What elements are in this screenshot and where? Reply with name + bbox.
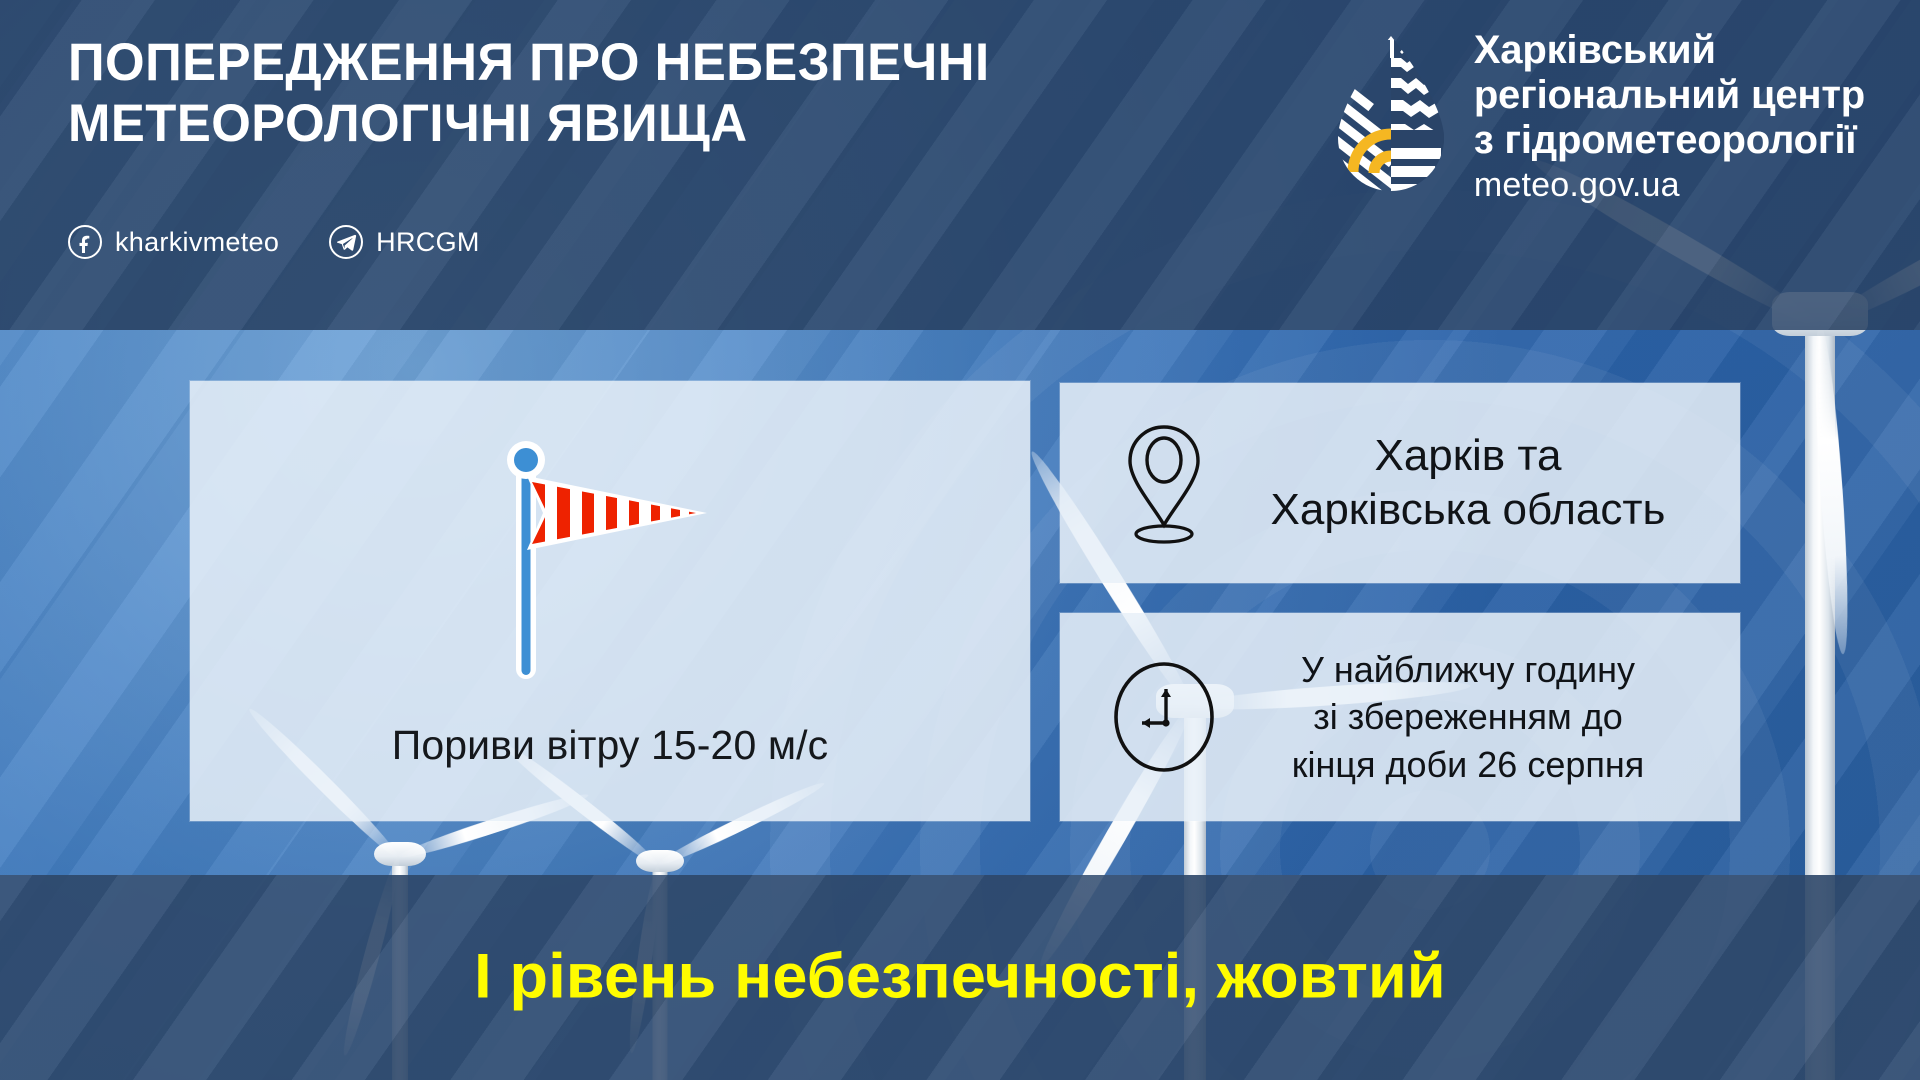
- wind-info-panel: Пориви вітру 15-20 м/с: [190, 381, 1030, 821]
- header-band: ПОПЕРЕДЖЕННЯ ПРО НЕБЕЗПЕЧНІ МЕТЕОРОЛОГІЧ…: [0, 0, 1920, 330]
- time-info-panel: У найближчу годину зі збереженням до кін…: [1060, 613, 1740, 821]
- hydrometeorology-droplet-logo-icon: [1332, 34, 1450, 194]
- location-text: Харків та Харківська область: [1224, 429, 1712, 536]
- location-line-1: Харків та: [1224, 429, 1712, 483]
- page-title-line2: МЕТЕОРОЛОГІЧНІ ЯВИЩА: [68, 93, 990, 154]
- wind-pennant-flag-icon: [475, 429, 745, 699]
- social-link-facebook[interactable]: kharkivmeteo: [68, 225, 279, 259]
- logo-line-2: регіональний центр: [1474, 73, 1865, 118]
- footer-band: I рівень небезпечності, жовтий: [0, 875, 1920, 1080]
- logo-line-1: Харківський: [1474, 28, 1865, 73]
- social-label-telegram: HRCGM: [376, 227, 480, 258]
- clock-icon: [1108, 657, 1220, 777]
- time-line-2: зі збереженням до: [1224, 693, 1712, 741]
- wind-caption: Пориви вітру 15-20 м/с: [190, 722, 1030, 769]
- social-links: kharkivmeteo HRCGM: [68, 225, 480, 259]
- map-pin-icon: [1118, 419, 1210, 547]
- organization-logo-text: Харківський регіональний центр з гідроме…: [1474, 28, 1865, 207]
- social-label-facebook: kharkivmeteo: [115, 227, 279, 258]
- facebook-icon: [68, 225, 102, 259]
- location-line-2: Харківська область: [1224, 483, 1712, 537]
- clock-icon-wrap: [1104, 657, 1224, 777]
- time-line-1: У найближчу годину: [1224, 646, 1712, 694]
- location-info-panel: Харків та Харківська область: [1060, 383, 1740, 583]
- organization-logo[interactable]: Харківський регіональний центр з гідроме…: [1332, 28, 1865, 207]
- telegram-icon: [329, 225, 363, 259]
- time-line-3: кінця доби 26 серпня: [1224, 741, 1712, 789]
- danger-level-banner: I рівень небезпечності, жовтий: [0, 940, 1920, 1012]
- social-link-telegram[interactable]: HRCGM: [329, 225, 480, 259]
- logo-line-3: з гідрометеорології: [1474, 118, 1865, 163]
- page-title: ПОПЕРЕДЖЕННЯ ПРО НЕБЕЗПЕЧНІ МЕТЕОРОЛОГІЧ…: [68, 32, 990, 155]
- map-pin-icon-wrap: [1104, 419, 1224, 547]
- page-title-line1: ПОПЕРЕДЖЕННЯ ПРО НЕБЕЗПЕЧНІ: [68, 33, 990, 92]
- time-text: У найближчу годину зі збереженням до кін…: [1224, 646, 1712, 789]
- logo-website-url: meteo.gov.ua: [1474, 164, 1865, 207]
